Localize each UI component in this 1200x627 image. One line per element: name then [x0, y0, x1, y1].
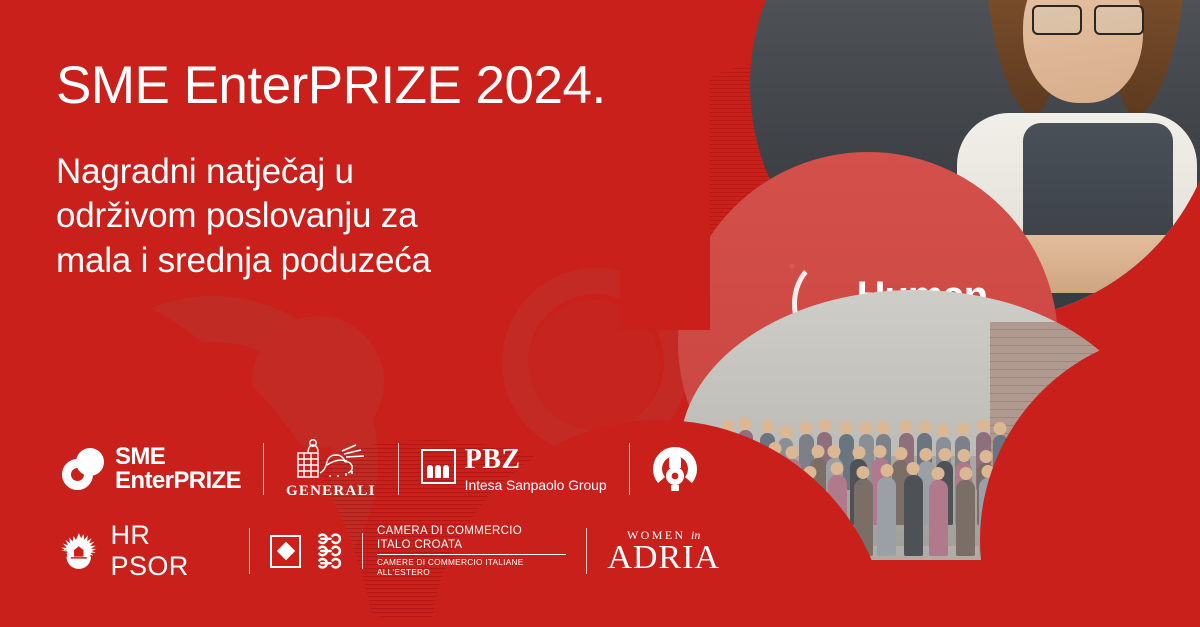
winged-lion-icon: [294, 439, 368, 481]
adria-wordmark: ADRIA: [607, 541, 720, 574]
camera-line-3: CAMERE DI COMMERCIO ITALIANE ALL'ESTERO: [377, 554, 566, 577]
sme-line-1: SME: [115, 445, 241, 469]
logo-divider: [249, 528, 250, 574]
promo-banner: Human SME EnterPRIZE 2024.: [0, 0, 1200, 627]
logo-generali[interactable]: GENERALI: [286, 439, 376, 500]
sponsor-row-secondary: HR PSOR C: [0, 516, 720, 586]
logo-divider: [586, 528, 587, 574]
subtitle-line-1: Nagradni natječaj u: [56, 150, 676, 194]
camera-rule: [362, 533, 363, 569]
crowd-person: [956, 480, 975, 556]
diamond-in-square-icon: [270, 535, 301, 568]
logo-divider: [263, 443, 264, 495]
arched-building-icon: [421, 449, 456, 484]
logo-divider: [398, 443, 399, 495]
sme-line-2: EnterPRIZE: [115, 469, 241, 493]
logo-camera-di-commercio[interactable]: CAMERA DI COMMERCIO ITALO CROATA CAMERE …: [270, 525, 566, 577]
celtic-knot-cc-icon: [310, 532, 348, 570]
camera-line-2: ITALO CROATA: [377, 539, 566, 553]
logo-pbz[interactable]: PBZ Intesa Sanpaolo Group: [421, 446, 607, 493]
sme-wordmark: SME EnterPRIZE: [115, 445, 241, 494]
circular-figure-emblem-icon: [652, 446, 698, 492]
sponsor-row-primary: SME EnterPRIZE: [0, 430, 720, 508]
hr-psor-wordmark: HR PSOR: [111, 520, 230, 582]
logo-divider: [629, 443, 630, 495]
page-title: SME EnterPRIZE 2024.: [56, 58, 676, 114]
logo-sme-enterprize[interactable]: SME EnterPRIZE: [62, 445, 241, 494]
glasses-icon: [1032, 5, 1144, 31]
subtitle: Nagradni natječaj u održivom poslovanju …: [56, 150, 676, 283]
subtitle-line-3: mala i srednja poduzeća: [56, 239, 676, 283]
crowd-person: [877, 477, 896, 555]
camera-line-1: CAMERA DI COMMERCIO: [377, 525, 566, 539]
pbz-subtitle: Intesa Sanpaolo Group: [465, 477, 607, 493]
overlapping-circles-icon: [62, 448, 104, 490]
crowd-person: [904, 475, 923, 556]
logo-hr-psor[interactable]: HR PSOR: [58, 520, 229, 582]
sun-gear-icon: [58, 529, 100, 573]
logo-women-in-adria[interactable]: WOMEN in ADRIA: [607, 528, 720, 574]
pbz-wordmark: PBZ: [465, 446, 607, 474]
generali-wordmark: GENERALI: [286, 483, 376, 500]
crowd-person: [929, 480, 948, 555]
headline-block: SME EnterPRIZE 2024. Nagradni natječaj u…: [56, 58, 676, 283]
subtitle-line-2: održivom poslovanju za: [56, 194, 676, 238]
logo-partner-emblem[interactable]: [652, 446, 698, 492]
sponsor-logo-bar: SME EnterPRIZE: [0, 430, 720, 586]
